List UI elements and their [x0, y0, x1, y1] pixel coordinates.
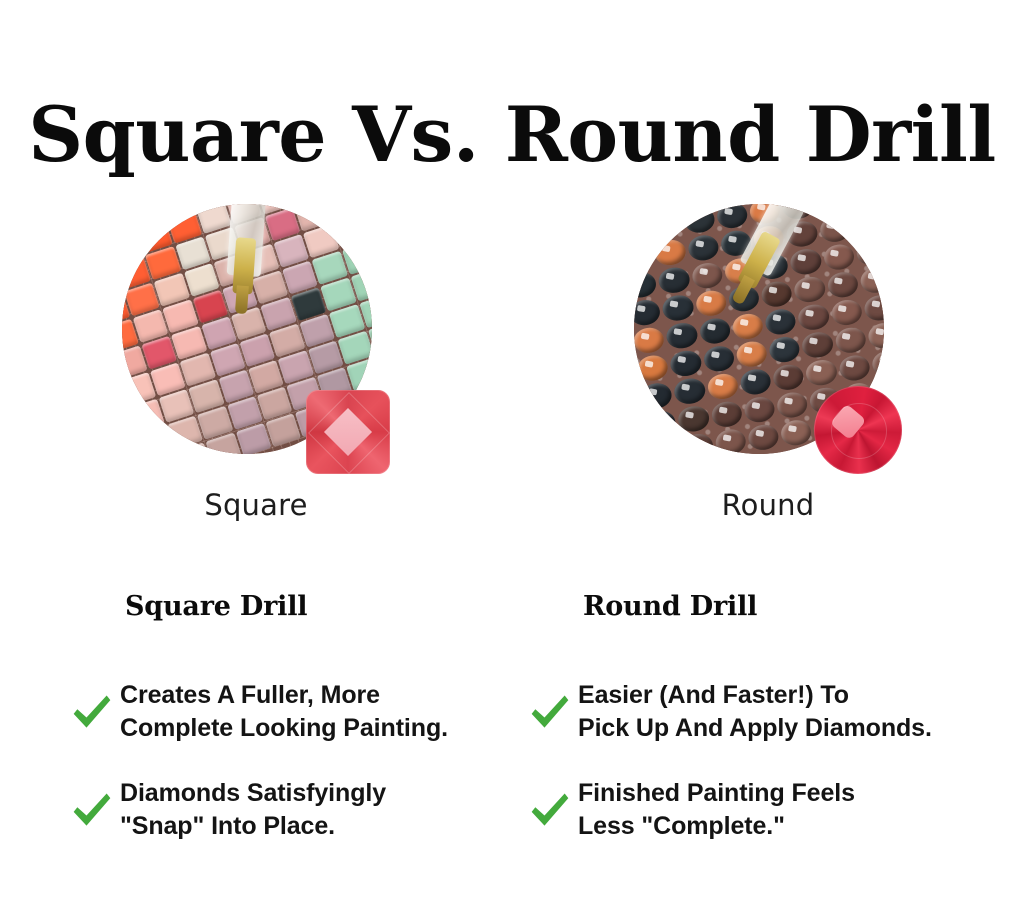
check-icon — [70, 788, 114, 832]
round-gem-icon — [814, 386, 902, 474]
round-photo-wrap — [634, 204, 902, 476]
square-photo-wrap — [122, 204, 390, 476]
round-drill-heading: Round Drill — [583, 592, 998, 622]
check-icon — [528, 690, 572, 734]
detail-column-square-drill: Square Drill Creates A Fuller, More Comp… — [70, 592, 540, 870]
list-item: Diamonds Satisfyingly "Snap" Into Place. — [70, 772, 540, 848]
bullet-text: Diamonds Satisfyingly "Snap" Into Place. — [120, 777, 386, 842]
list-item: Finished Painting Feels Less "Complete." — [528, 772, 998, 848]
list-item: Creates A Fuller, More Complete Looking … — [70, 674, 540, 750]
check-icon — [528, 788, 572, 832]
pen-tip — [235, 285, 249, 314]
bullet-text: Finished Painting Feels Less "Complete." — [578, 777, 855, 842]
square-drill-heading: Square Drill — [125, 592, 540, 622]
check-icon — [70, 690, 114, 734]
page-title: Square Vs. Round Drill — [0, 97, 1024, 173]
pen-tip — [731, 275, 755, 305]
comparison-column-round: Round — [512, 196, 1024, 536]
square-gem-icon — [306, 390, 390, 474]
bullet-text: Easier (And Faster!) To Pick Up And Appl… — [578, 679, 932, 744]
detail-column-round-drill: Round Drill Easier (And Faster!) To Pick… — [528, 592, 998, 870]
list-item: Easier (And Faster!) To Pick Up And Appl… — [528, 674, 998, 750]
comparison-section: Square — [0, 196, 1024, 536]
bullet-text: Creates A Fuller, More Complete Looking … — [120, 679, 448, 744]
infographic-page: Square Vs. Round Drill — [0, 0, 1024, 922]
comparison-column-square: Square — [0, 196, 512, 536]
round-photo-caption: Round — [512, 488, 1024, 522]
details-section: Square Drill Creates A Fuller, More Comp… — [0, 592, 1024, 892]
square-photo-caption: Square — [0, 488, 512, 522]
